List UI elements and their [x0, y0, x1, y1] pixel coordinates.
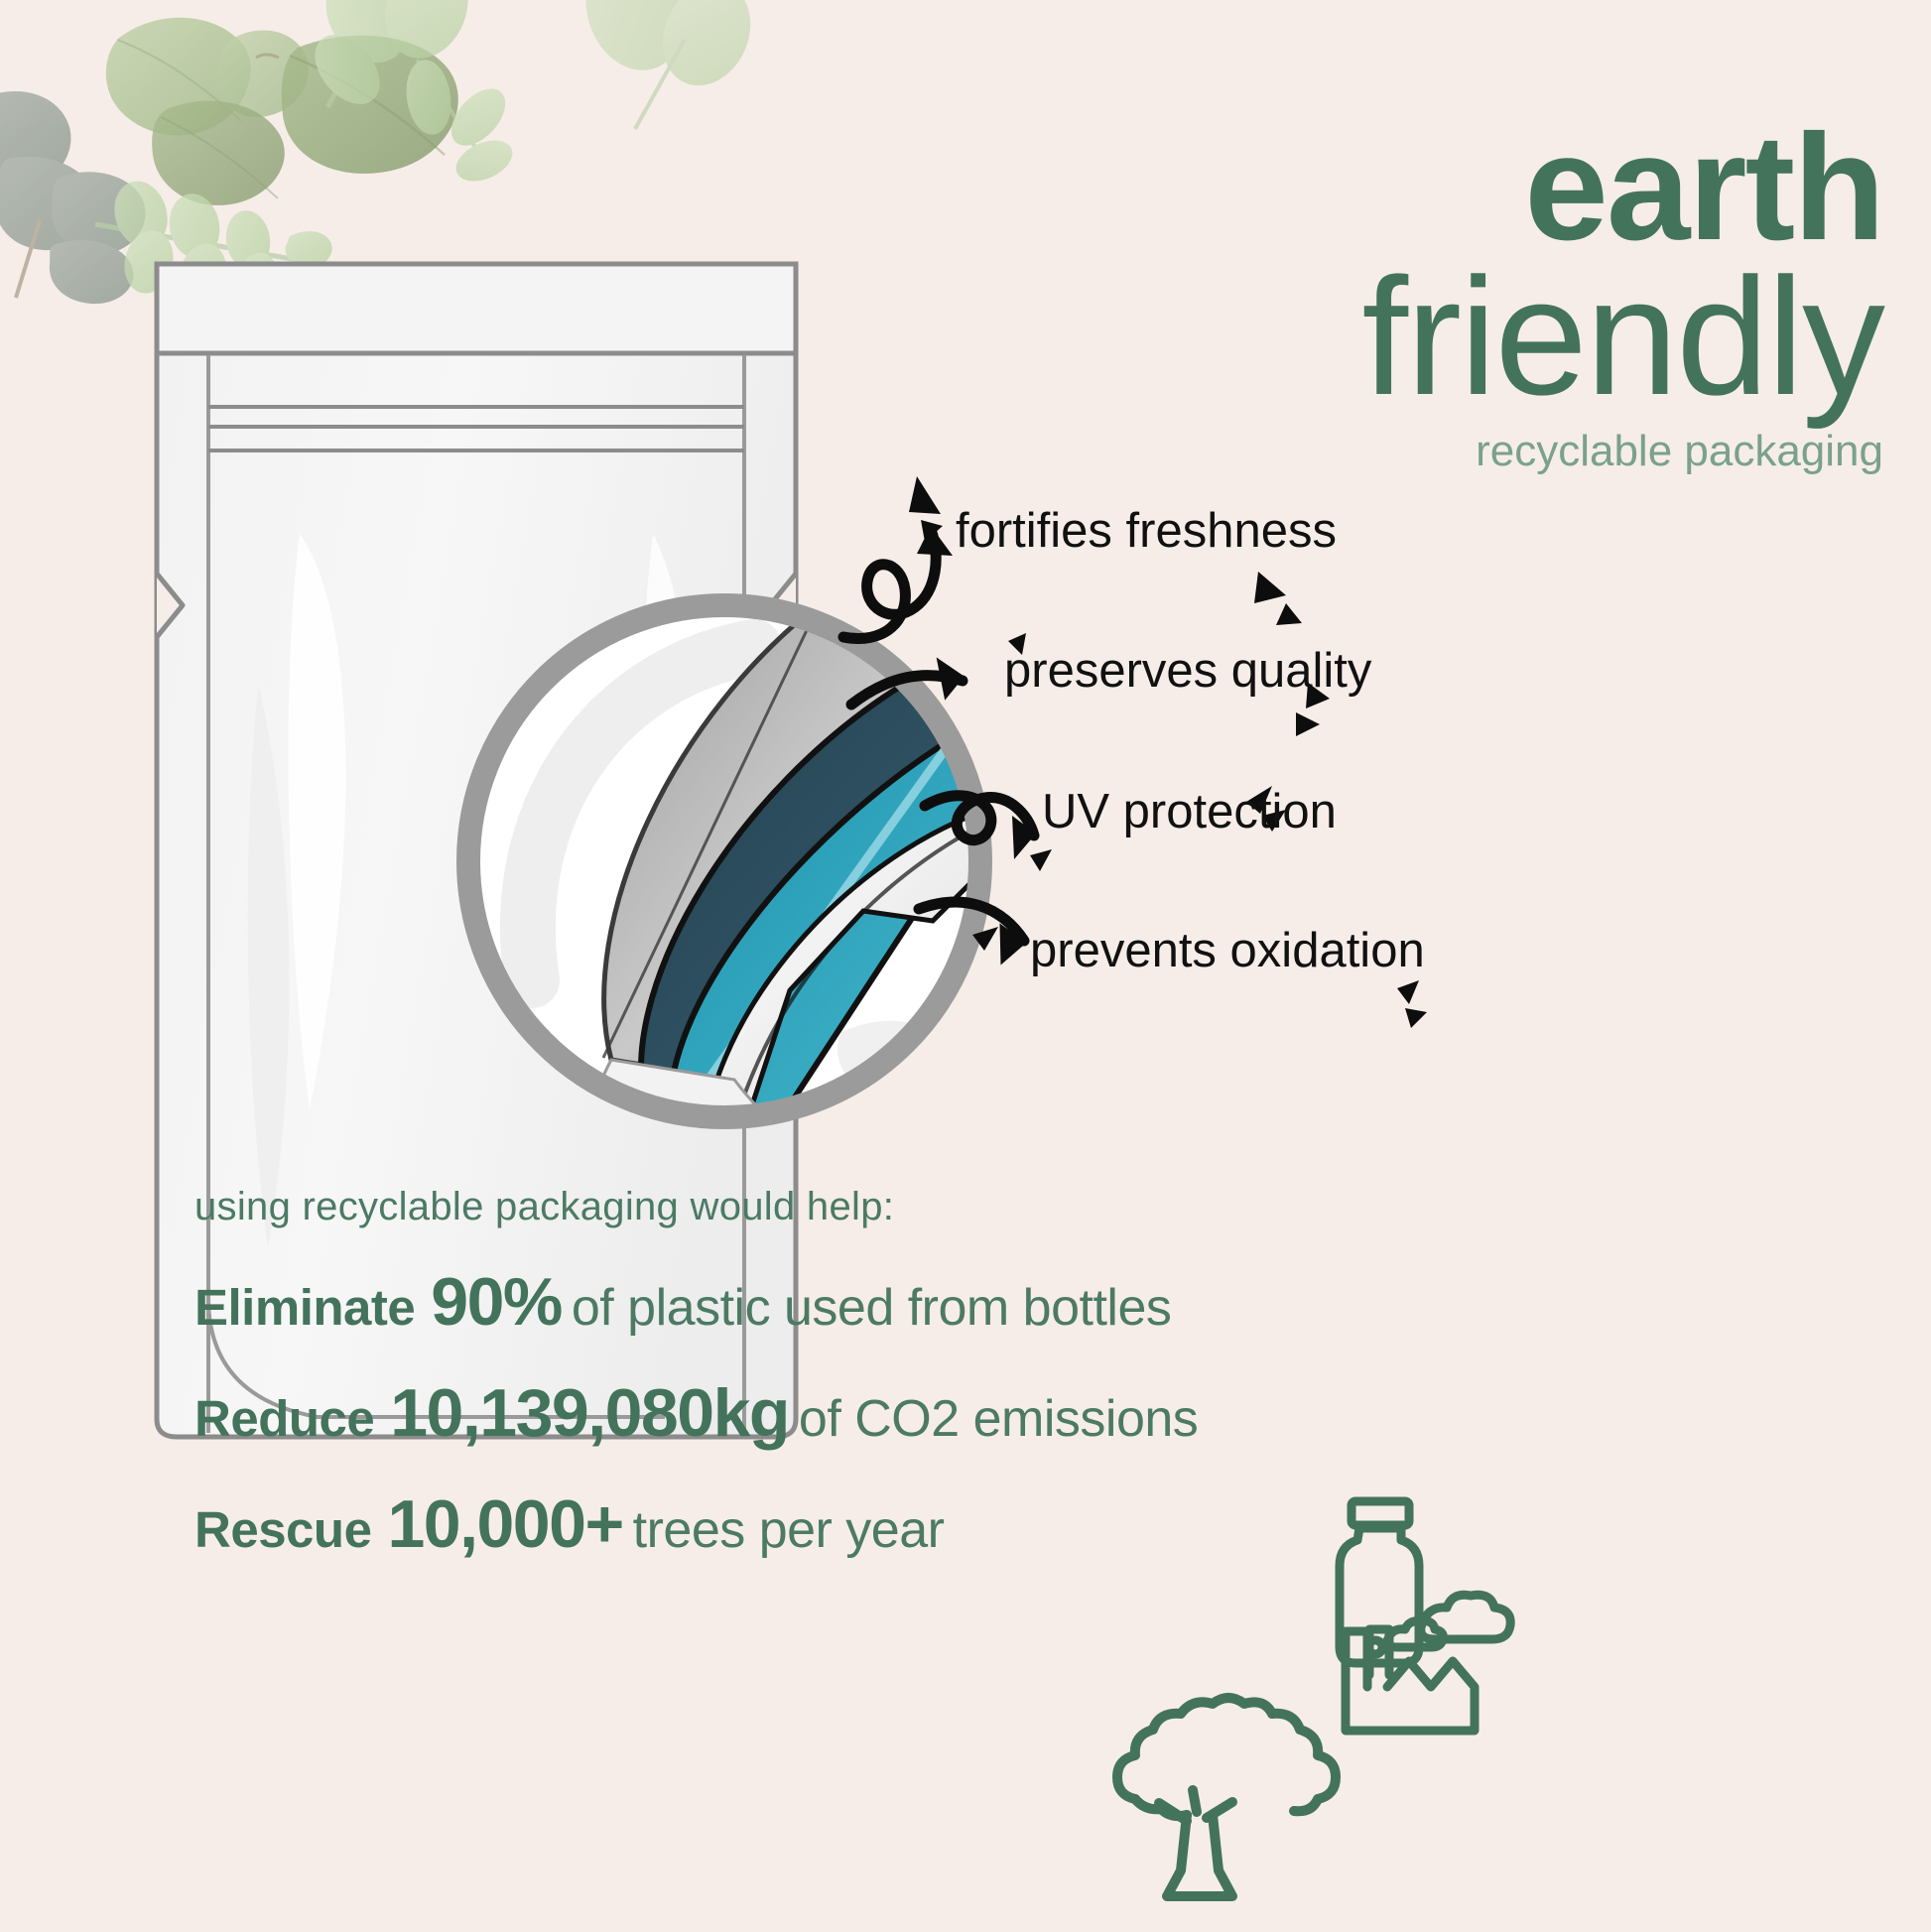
leaf-icon — [0, 91, 145, 304]
stat-number: 10,139,080kg — [390, 1374, 789, 1452]
feature-label-fortifies-freshness: fortifies freshness — [956, 503, 1337, 559]
factory-icon — [1346, 1595, 1510, 1731]
leaf-icon — [302, 0, 518, 190]
stat-row: Rescue 10,000+ trees per year — [194, 1485, 1881, 1563]
feature-label-preserves-quality: preserves quality — [1004, 643, 1371, 699]
feature-label-uv-protection: UV protection — [1042, 784, 1337, 839]
stat-row: Eliminate 90% of plastic used from bottl… — [194, 1263, 1881, 1341]
stat-number: 10,000+ — [387, 1485, 622, 1563]
stat-tail: of plastic used from bottles — [572, 1278, 1172, 1338]
stat-row: Reduce 10,139,080kg of CO2 emissions — [194, 1374, 1881, 1452]
stat-tail: trees per year — [633, 1500, 945, 1560]
stat-tail: of CO2 emissions — [799, 1389, 1198, 1449]
stats-intro-text: using recyclable packaging would help: — [194, 1185, 1881, 1229]
stat-number: 90% — [431, 1263, 562, 1341]
heading-block: earth friendly recyclable packaging — [891, 119, 1883, 478]
leaf-icon — [152, 101, 285, 205]
page-title-line1: earth — [891, 119, 1883, 258]
magnifier-circle — [437, 564, 1012, 1159]
infographic-canvas: earth friendly recyclable packaging fort… — [0, 0, 1931, 1932]
leaf-icon — [106, 18, 251, 136]
leaf-icon — [571, 0, 766, 129]
page-title-line2: friendly — [891, 258, 1883, 417]
feature-label-prevents-oxidation: prevents oxidation — [1030, 923, 1425, 978]
leaf-icon — [256, 36, 458, 174]
stat-verb: Eliminate — [194, 1278, 415, 1337]
page-subtitle: recyclable packaging — [891, 426, 1883, 478]
stats-block: using recyclable packaging would help: E… — [194, 1185, 1881, 1563]
stat-verb: Rescue — [194, 1500, 371, 1559]
leaf-icon — [217, 30, 309, 117]
tree-icon — [1117, 1698, 1336, 1896]
stat-verb: Reduce — [194, 1389, 374, 1448]
